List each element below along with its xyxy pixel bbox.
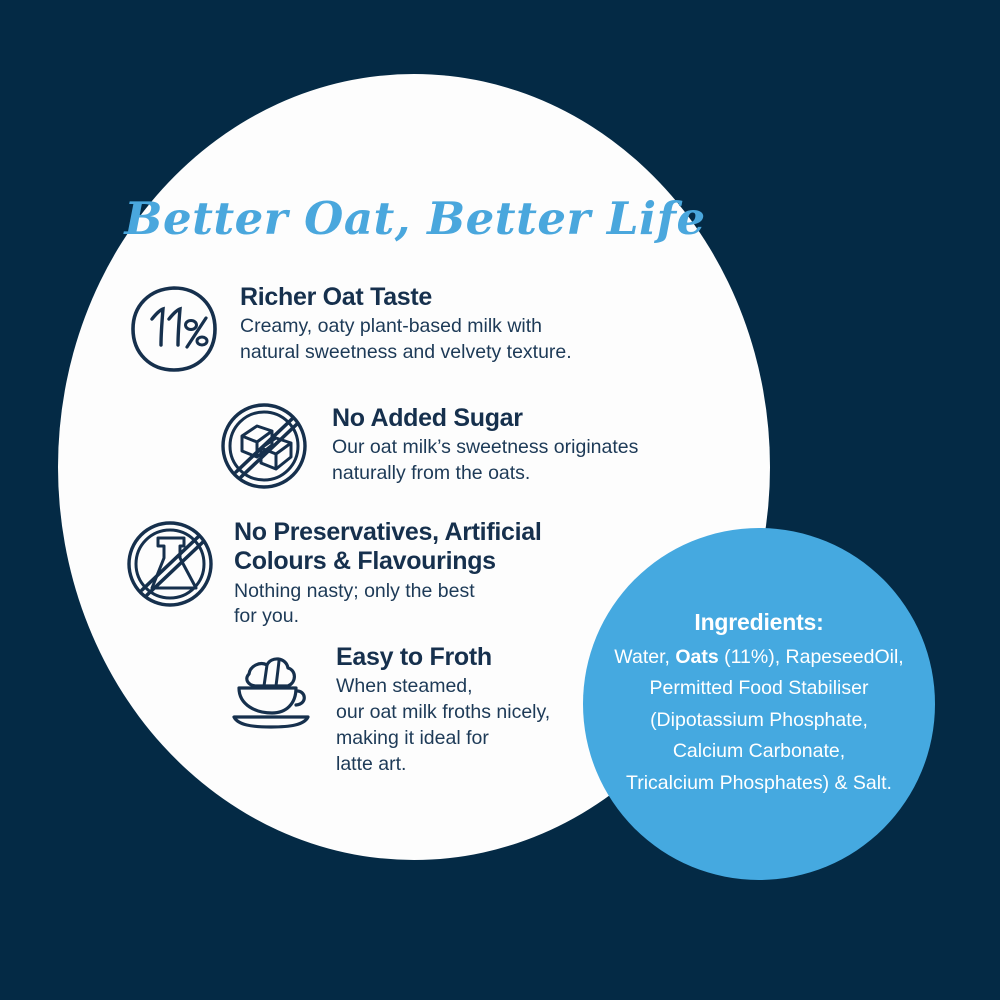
feature-title: Richer Oat Taste — [240, 283, 572, 312]
feature-text-block: No Added Sugar Our oat milk’s sweetness … — [332, 398, 638, 487]
ingredients-circle: Ingredients: Water, Oats (11%), Rapeseed… — [583, 528, 935, 880]
ingredients-line-suffix: (11%), Rapeseed — [719, 646, 875, 668]
ingredients-title: Ingredients: — [694, 609, 823, 636]
eleven-percent-badge-icon — [126, 281, 222, 377]
no-sugar-cubes-icon — [216, 398, 312, 494]
feature-text-block: No Preservatives, Artificial Colours & F… — [234, 516, 542, 630]
no-flask-icon — [122, 516, 218, 612]
page-title: Better Oat, Better Life — [0, 192, 830, 245]
feature-no-added-sugar: No Added Sugar Our oat milk’s sweetness … — [216, 398, 638, 494]
feature-description: Creamy, oaty plant-based milk with natur… — [240, 314, 572, 366]
feature-title: Easy to Froth — [336, 643, 550, 672]
feature-no-preservatives: No Preservatives, Artificial Colours & F… — [122, 516, 542, 630]
feature-text-block: Richer Oat Taste Creamy, oaty plant-base… — [240, 281, 572, 366]
feature-easy-to-froth: Easy to Froth When steamed, our oat milk… — [224, 641, 550, 778]
feature-title: No Added Sugar — [332, 404, 638, 433]
feature-description: Nothing nasty; only the best for you. — [234, 579, 542, 631]
ingredients-line-prefix: Water, — [614, 646, 675, 668]
ingredients-oats-bold: Oats — [675, 646, 718, 668]
feature-title: No Preservatives, Artificial Colours & F… — [234, 518, 542, 577]
feature-description: Our oat milk’s sweetness originates natu… — [332, 435, 638, 487]
poster-canvas: Better Oat, Better Life Richer Oat Taste… — [0, 0, 1000, 1000]
ingredients-body: Water, Oats (11%), RapeseedOil, Permitte… — [595, 642, 923, 800]
feature-description: When steamed, our oat milk froths nicely… — [336, 674, 550, 778]
coffee-cup-froth-icon — [224, 641, 320, 737]
feature-richer-oat-taste: Richer Oat Taste Creamy, oaty plant-base… — [126, 281, 572, 377]
feature-text-block: Easy to Froth When steamed, our oat milk… — [336, 641, 550, 778]
